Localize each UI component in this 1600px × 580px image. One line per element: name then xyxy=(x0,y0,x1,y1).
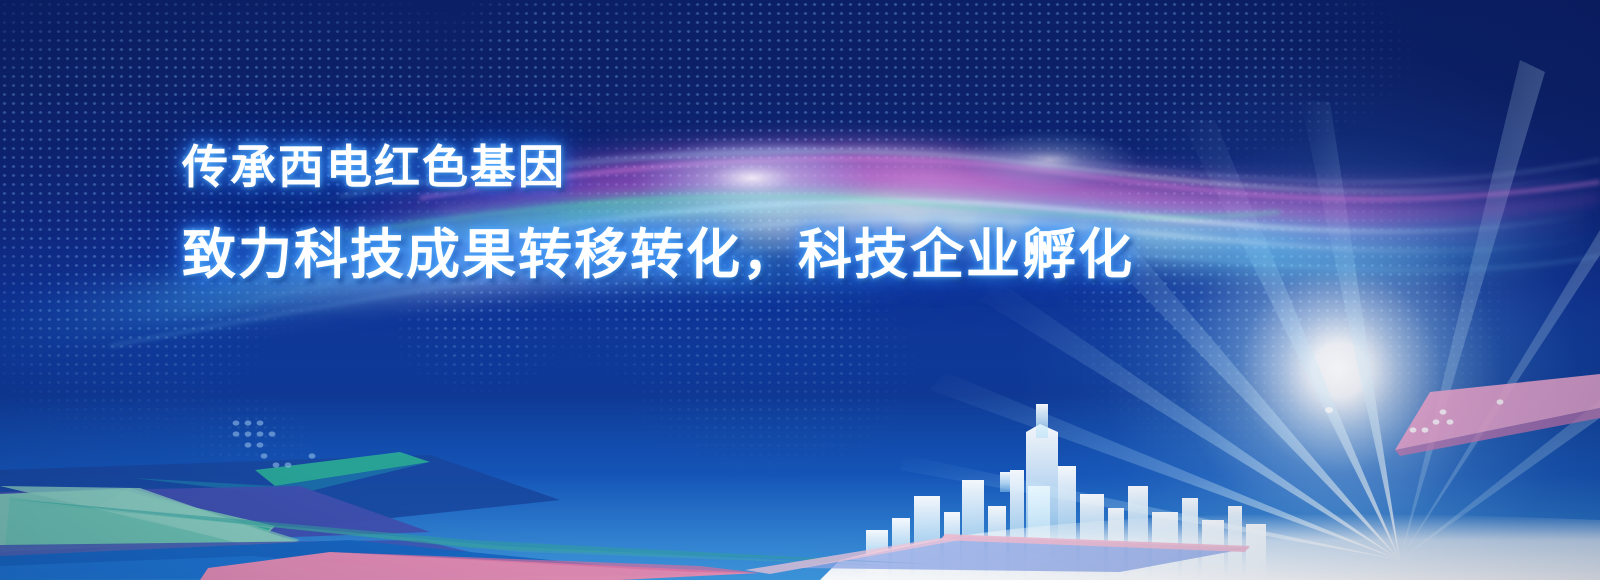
scattered-dot-accents xyxy=(0,0,1600,580)
headline-line-2: 致力科技成果转移转化，科技企业孵化 xyxy=(182,222,1282,288)
hero-banner: 传承西电红色基因 致力科技成果转移转化，科技企业孵化 xyxy=(0,0,1600,580)
headline-block: 传承西电红色基因 致力科技成果转移转化，科技企业孵化 xyxy=(182,138,1282,288)
headline-line-1: 传承西电红色基因 xyxy=(182,138,1282,196)
